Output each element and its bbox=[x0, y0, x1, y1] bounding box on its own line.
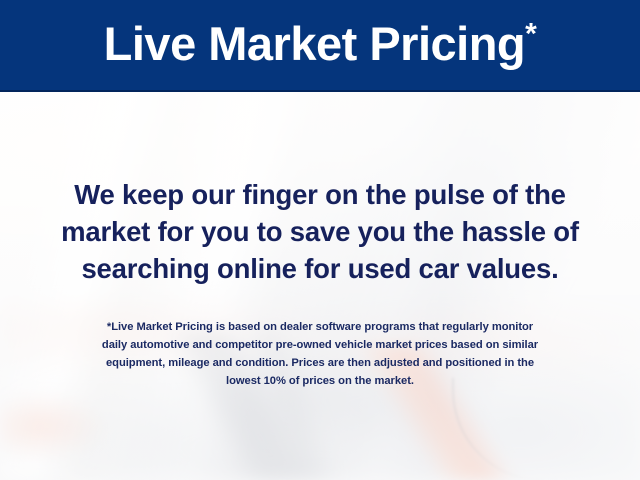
header-bar: Live Market Pricing* bbox=[0, 0, 640, 92]
background-orange-accent-left bbox=[0, 390, 150, 460]
live-market-pricing-banner: Live Market Pricing* We keep our finger … bbox=[0, 0, 640, 480]
page-title-asterisk: * bbox=[525, 17, 536, 50]
headline-line-3: searching online for used car values. bbox=[0, 250, 640, 287]
headline-block: We keep our finger on the pulse of the m… bbox=[0, 176, 640, 287]
footnote-line-1: *Live Market Pricing is based on dealer … bbox=[0, 318, 640, 336]
page-title-text: Live Market Pricing bbox=[104, 17, 526, 70]
footnote-disclaimer: *Live Market Pricing is based on dealer … bbox=[0, 318, 640, 390]
background-antenna-curve bbox=[452, 378, 584, 480]
headline-line-2: market for you to save you the hassle of bbox=[0, 213, 640, 250]
footnote-line-4: lowest 10% of prices on the market. bbox=[0, 372, 640, 390]
page-title: Live Market Pricing* bbox=[104, 20, 537, 71]
footnote-line-3: equipment, mileage and condition. Prices… bbox=[0, 354, 640, 372]
footnote-line-2: daily automotive and competitor pre-owne… bbox=[0, 336, 640, 354]
headline-line-1: We keep our finger on the pulse of the bbox=[0, 176, 640, 213]
